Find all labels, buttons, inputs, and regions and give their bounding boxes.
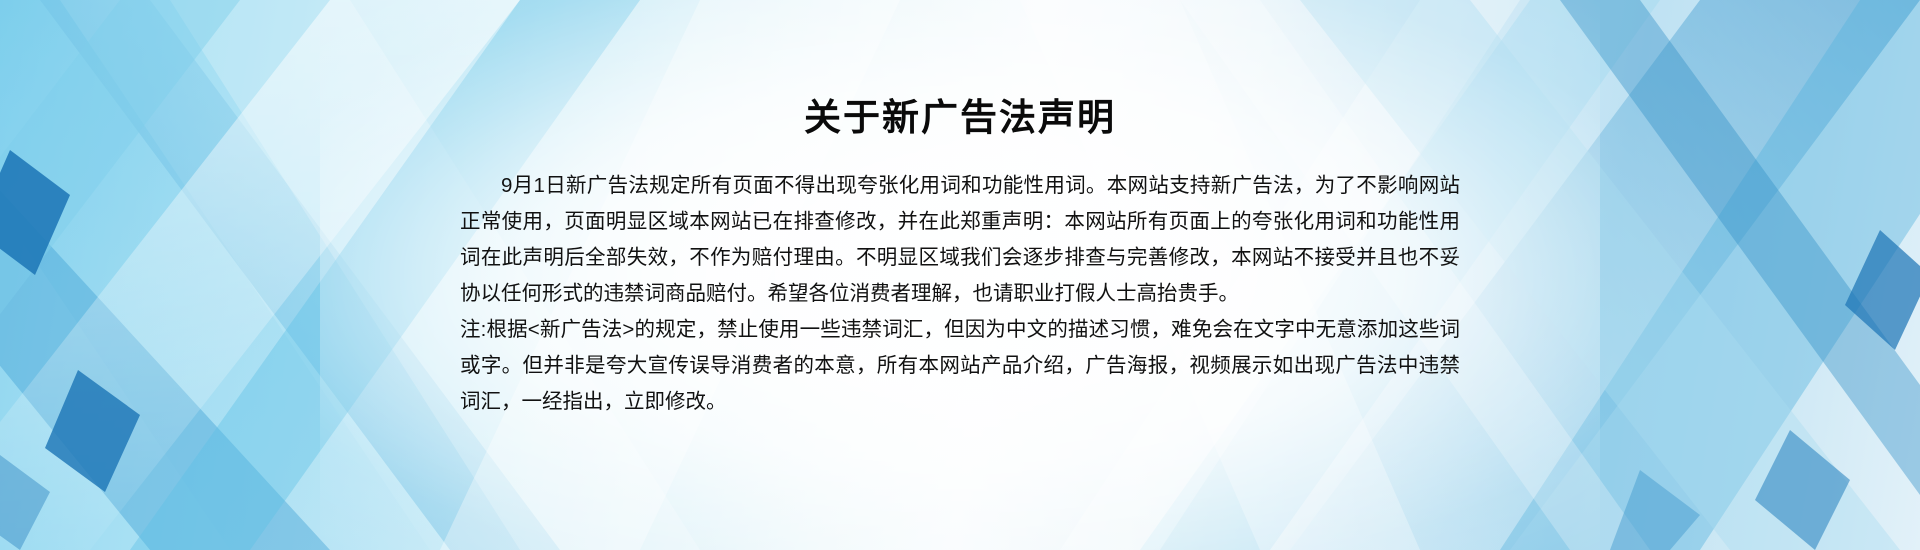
advertising-law-statement-banner: 关于新广告法声明 9月1日新广告法规定所有页面不得出现夸张化用词和功能性用词。本… bbox=[0, 0, 1920, 550]
accent-diamonds-right bbox=[1610, 230, 1920, 550]
statement-paragraph-main: 9月1日新广告法规定所有页面不得出现夸张化用词和功能性用词。本网站支持新广告法，… bbox=[460, 168, 1460, 312]
accent-diamonds-left bbox=[0, 150, 140, 550]
statement-content: 关于新广告法声明 9月1日新广告法规定所有页面不得出现夸张化用词和功能性用词。本… bbox=[460, 0, 1460, 550]
statement-body: 9月1日新广告法规定所有页面不得出现夸张化用词和功能性用词。本网站支持新广告法，… bbox=[460, 168, 1460, 420]
statement-paragraph-note: 注:根据<新广告法>的规定，禁止使用一些违禁词汇，但因为中文的描述习惯，难免会在… bbox=[460, 312, 1460, 420]
page-title: 关于新广告法声明 bbox=[804, 96, 1116, 140]
